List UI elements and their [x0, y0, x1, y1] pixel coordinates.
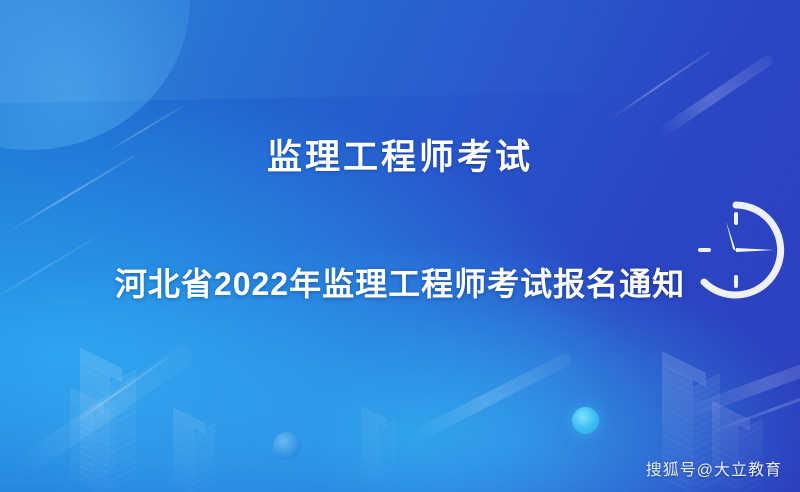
light-streak-icon: [657, 53, 775, 138]
page-subtitle: 河北省2022年监理工程师考试报名通知: [0, 259, 800, 305]
page-title: 监理工程师考试: [0, 129, 800, 180]
light-streak-icon: [609, 51, 710, 120]
small-sphere-icon: [273, 432, 301, 460]
building-left: [68, 358, 148, 492]
light-streak-icon: [412, 351, 574, 442]
watermark-label: 搜狐号@大立教育: [646, 456, 782, 480]
building-center: [355, 412, 401, 492]
exam-announcement-banner: 监理工程师考试 河北省2022年监理工程师考试报名通知 搜狐号@大立教育: [0, 0, 800, 492]
top-light-band: [0, 0, 800, 103]
corner-glow-blob: [0, 0, 190, 150]
cyan-dot-icon: [572, 407, 599, 434]
building-mid-left: [165, 415, 225, 492]
